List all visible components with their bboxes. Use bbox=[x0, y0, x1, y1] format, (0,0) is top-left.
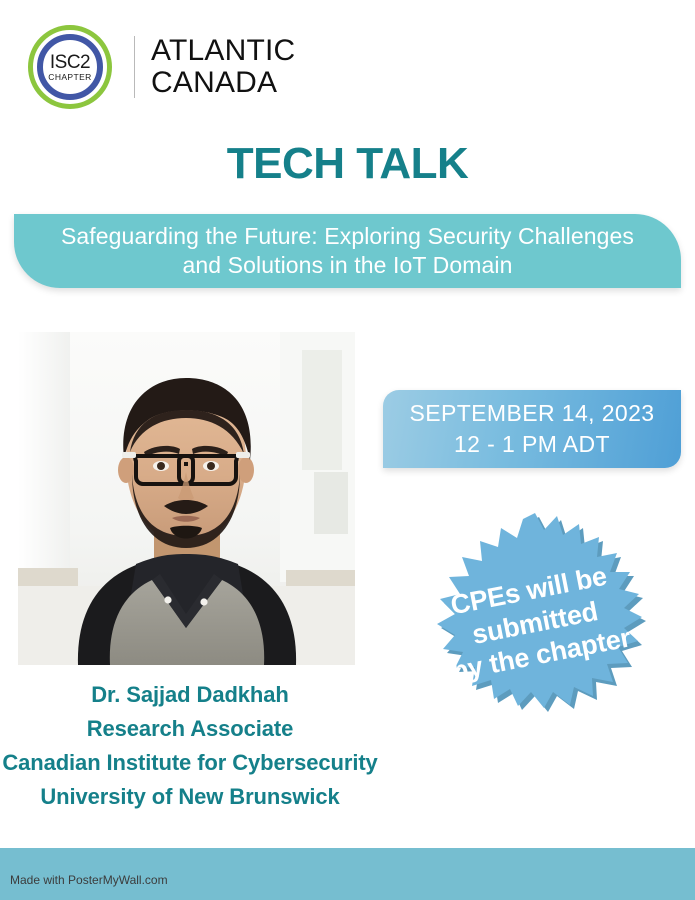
brand-logo-block: ISC2 CHAPTER ATLANTIC CANADA bbox=[28, 22, 328, 112]
poster-canvas: ISC2 CHAPTER ATLANTIC CANADA TECH TALK S… bbox=[0, 0, 695, 900]
logo-isc2-text: ISC2 bbox=[50, 53, 90, 72]
logo-divider bbox=[134, 36, 135, 98]
event-date: SEPTEMBER 14, 2023 bbox=[410, 398, 655, 429]
subtitle-banner: Safeguarding the Future: Exploring Secur… bbox=[14, 214, 681, 288]
event-datetime-box: SEPTEMBER 14, 2023 12 - 1 PM ADT bbox=[383, 390, 681, 468]
starburst-main-layer bbox=[437, 513, 642, 708]
organization-name: ATLANTIC CANADA bbox=[151, 35, 295, 100]
speaker-headshot-photo bbox=[18, 332, 355, 665]
subtitle-text: Safeguarding the Future: Exploring Secur… bbox=[39, 222, 656, 280]
speaker-institution: University of New Brunswick bbox=[0, 780, 380, 814]
page-title: TECH TALK bbox=[0, 139, 695, 189]
subtitle-line-1: Safeguarding the Future: Exploring Secur… bbox=[61, 222, 634, 251]
speaker-role: Research Associate bbox=[0, 712, 380, 746]
footer-credit: Made with PosterMyWall.com bbox=[10, 873, 168, 887]
subtitle-line-2: and Solutions in the IoT Domain bbox=[61, 251, 634, 280]
starburst-icon bbox=[437, 513, 642, 708]
speaker-organization: Canadian Institute for Cybersecurity bbox=[0, 746, 380, 780]
speaker-info-block: Dr. Sajjad Dadkhah Research Associate Ca… bbox=[0, 678, 380, 814]
organization-line-1: ATLANTIC bbox=[151, 35, 295, 67]
logo-seal-text: ISC2 CHAPTER bbox=[28, 25, 112, 109]
event-time: 12 - 1 PM ADT bbox=[454, 429, 610, 460]
cpe-starburst-badge: CPEs will be submitted by the chapter bbox=[398, 508, 672, 738]
isc2-chapter-seal-icon: ISC2 CHAPTER bbox=[28, 25, 112, 109]
logo-chapter-text: CHAPTER bbox=[48, 73, 91, 82]
speaker-name: Dr. Sajjad Dadkhah bbox=[0, 678, 380, 712]
organization-line-2: CANADA bbox=[151, 67, 295, 99]
